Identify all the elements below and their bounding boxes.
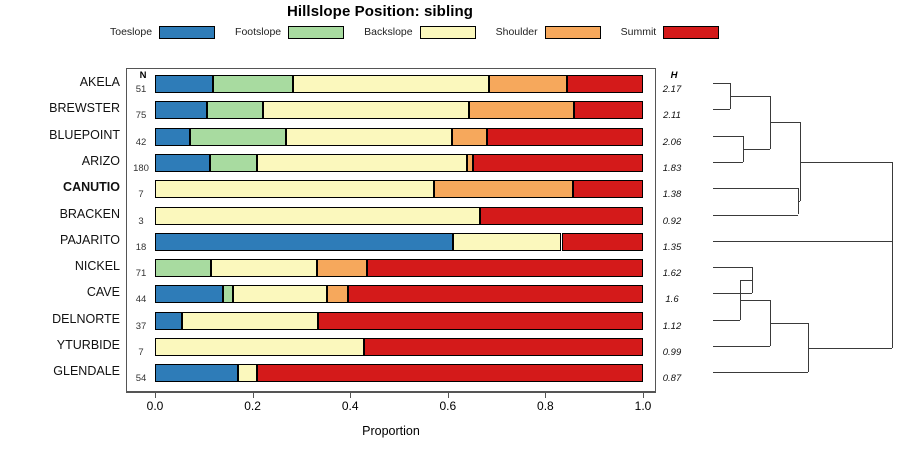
- row-label-cave: CAVE: [0, 285, 120, 299]
- bar-segment-toeslope: [155, 285, 223, 303]
- dendrogram-branch: [808, 348, 892, 349]
- bar-segment-backslope: [263, 101, 469, 119]
- dendrogram-branch: [713, 162, 743, 163]
- dendrogram-branch: [892, 241, 893, 255]
- row-count: 7: [128, 189, 154, 200]
- dendrogram-branch: [800, 162, 892, 163]
- bar-segment-summit: [480, 207, 643, 225]
- dendrogram-branch: [752, 267, 753, 293]
- dendrogram-branch: [740, 280, 752, 281]
- legend-item-shoulder: Shoulder: [496, 26, 601, 39]
- bar-segment-footslope: [213, 75, 293, 93]
- bar-segment-footslope: [207, 101, 263, 119]
- x-tick-label: 0.4: [342, 399, 359, 413]
- bar-segment-shoulder: [327, 285, 348, 303]
- bar-segment-toeslope: [155, 364, 238, 382]
- row-label-bracken: BRACKEN: [0, 207, 120, 221]
- row-count: 18: [128, 242, 154, 253]
- row-label-pajarito: PAJARITO: [0, 233, 120, 247]
- legend: ToeslopeFootslopeBackslopeShoulderSummit: [110, 24, 760, 40]
- bar-segment-backslope: [211, 259, 317, 277]
- bar-segment-summit: [364, 338, 643, 356]
- legend-swatch: [159, 26, 215, 39]
- x-tick: [253, 392, 254, 398]
- dendrogram-branch: [743, 149, 770, 150]
- dendrogram-branch: [740, 300, 770, 301]
- bar-segment-backslope: [155, 180, 434, 198]
- dendrogram-branch: [770, 323, 808, 324]
- x-tick: [155, 392, 156, 398]
- row-count: 51: [128, 84, 154, 95]
- bar-segment-backslope: [238, 364, 257, 382]
- bar-segment-shoulder: [469, 101, 574, 119]
- bar-segment-summit: [574, 101, 643, 119]
- bar-segment-summit: [257, 364, 643, 382]
- dendrogram-branch: [730, 96, 770, 97]
- legend-item-footslope: Footslope: [235, 26, 344, 39]
- legend-label: Backslope: [364, 26, 412, 38]
- legend-item-summit: Summit: [621, 26, 720, 39]
- row-label-akela: AKELA: [0, 75, 120, 89]
- legend-label: Shoulder: [496, 26, 538, 38]
- bar-segment-footslope: [155, 259, 211, 277]
- bar-segment-toeslope: [155, 312, 182, 330]
- bar-segment-shoulder: [489, 75, 567, 93]
- stacked-bar: [155, 128, 643, 146]
- chart-root: Hillslope Position: sibling ToeslopeFoot…: [0, 0, 900, 460]
- row-label-brewster: BREWSTER: [0, 101, 120, 115]
- bar-segment-summit: [367, 259, 643, 277]
- bar-segment-toeslope: [155, 101, 207, 119]
- bar-segment-footslope: [223, 285, 233, 303]
- bar-segment-summit: [318, 312, 643, 330]
- dendrogram-branch: [713, 372, 808, 373]
- bar-segment-toeslope: [155, 233, 453, 251]
- dendrogram-branch: [713, 215, 798, 216]
- bar-segment-backslope: [155, 338, 364, 356]
- stacked-bar: [155, 233, 643, 251]
- bar-segment-backslope: [182, 312, 318, 330]
- bar-segment-summit: [348, 285, 643, 303]
- bar-segment-summit: [473, 154, 643, 172]
- bar-segment-backslope: [286, 128, 452, 146]
- x-tick: [350, 392, 351, 398]
- bar-segment-toeslope: [155, 154, 210, 172]
- bar-segment-backslope: [293, 75, 489, 93]
- legend-item-backslope: Backslope: [364, 26, 475, 39]
- dendrogram-branch: [770, 122, 800, 123]
- legend-label: Footslope: [235, 26, 281, 38]
- row-count: 37: [128, 321, 154, 332]
- stacked-bar: [155, 154, 643, 172]
- bar-segment-footslope: [190, 128, 286, 146]
- dendrogram: [660, 68, 900, 392]
- bar-segment-backslope: [155, 207, 480, 225]
- dendrogram-branch: [713, 293, 752, 294]
- row-count: 71: [128, 268, 154, 279]
- dendrogram-branch: [798, 201, 800, 202]
- row-count: 42: [128, 137, 154, 148]
- x-axis-line: [126, 392, 656, 393]
- dendrogram-branch: [713, 267, 752, 268]
- dendrogram-branch-pajarito: [713, 241, 892, 242]
- legend-swatch: [420, 26, 476, 39]
- bar-segment-backslope: [257, 154, 467, 172]
- bar-segment-summit: [562, 233, 643, 251]
- dendrogram-branch: [713, 83, 730, 84]
- dendrogram-branch: [713, 346, 770, 347]
- x-tick-label: 0.6: [439, 399, 456, 413]
- row-label-glendale: GLENDALE: [0, 364, 120, 378]
- x-tick-label: 0.2: [244, 399, 261, 413]
- x-tick: [448, 392, 449, 398]
- stacked-bar: [155, 101, 643, 119]
- dendrogram-branch: [713, 320, 740, 321]
- bar-segment-shoulder: [452, 128, 487, 146]
- chart-title: Hillslope Position: sibling: [0, 3, 760, 20]
- legend-swatch: [288, 26, 344, 39]
- row-count: 3: [128, 216, 154, 227]
- stacked-bar: [155, 259, 643, 277]
- bar-segment-footslope: [210, 154, 257, 172]
- legend-item-toeslope: Toeslope: [110, 26, 215, 39]
- bar-segment-shoulder: [317, 259, 367, 277]
- legend-label: Toeslope: [110, 26, 152, 38]
- bar-segment-summit: [487, 128, 643, 146]
- stacked-bar: [155, 312, 643, 330]
- x-tick: [643, 392, 644, 398]
- bar-segment-toeslope: [155, 128, 190, 146]
- row-label-canutio: CANUTIO: [0, 180, 120, 194]
- stacked-bar: [155, 180, 643, 198]
- row-label-yturbide: YTURBIDE: [0, 338, 120, 352]
- bar-segment-toeslope: [155, 75, 213, 93]
- x-tick: [545, 392, 546, 398]
- row-count: 54: [128, 373, 154, 384]
- dendrogram-branch: [713, 109, 730, 110]
- bar-segment-backslope: [453, 233, 561, 251]
- row-label-delnorte: DELNORTE: [0, 312, 120, 326]
- bar-segment-shoulder: [434, 180, 574, 198]
- x-tick-label: 0.8: [537, 399, 554, 413]
- x-axis-label: Proportion: [126, 424, 656, 438]
- dendrogram-branch: [713, 136, 743, 137]
- stacked-bar: [155, 207, 643, 225]
- x-tick-label: 0.0: [147, 399, 164, 413]
- x-tick-label: 1.0: [635, 399, 652, 413]
- row-count: 75: [128, 110, 154, 121]
- stacked-bar: [155, 364, 643, 382]
- bar-segment-summit: [567, 75, 643, 93]
- stacked-bar: [155, 338, 643, 356]
- dendrogram-branch: [713, 188, 798, 189]
- bar-segment-backslope: [233, 285, 327, 303]
- row-label-nickel: NICKEL: [0, 259, 120, 273]
- legend-label: Summit: [621, 26, 657, 38]
- row-label-bluepoint: BLUEPOINT: [0, 128, 120, 142]
- bar-segment-summit: [573, 180, 643, 198]
- stacked-bar: [155, 75, 643, 93]
- row-label-arizo: ARIZO: [0, 154, 120, 168]
- row-count: 180: [128, 163, 154, 174]
- legend-swatch: [545, 26, 601, 39]
- row-count: 7: [128, 347, 154, 358]
- stacked-bar: [155, 285, 643, 303]
- legend-swatch: [663, 26, 719, 39]
- row-count: 44: [128, 294, 154, 305]
